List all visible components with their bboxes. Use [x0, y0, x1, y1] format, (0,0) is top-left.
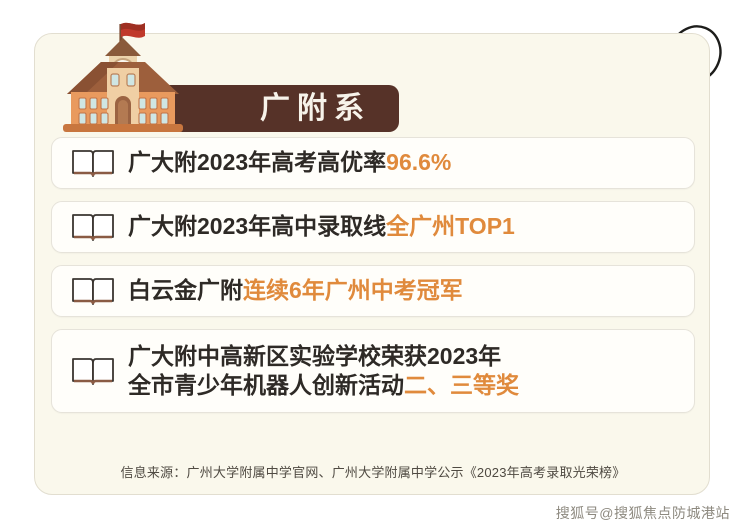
fact-text-line: 广大附中高新区实验学校荣获2023年 [128, 342, 519, 371]
fact-text-normal: 广大附中高新区实验学校荣获2023年 [128, 343, 501, 369]
source-note: 信息来源：广州大学附属中学官网、广州大学附属中学公示《2023年高考录取光荣榜》 [35, 462, 711, 481]
fact-text-line: 全市青少年机器人创新活动二、三等奖 [128, 371, 519, 400]
fact-text-highlight: 二、三等奖 [404, 372, 519, 398]
open-book-icon [70, 146, 116, 180]
fact-text-normal: 白云金广附 [128, 277, 243, 303]
header: 广附系 [35, 34, 711, 139]
open-book-icon [70, 274, 116, 308]
fact-text-normal: 全市青少年机器人创新活动 [128, 372, 404, 398]
page-title: 广附系 [253, 94, 371, 124]
fact-text-highlight: 连续6年广州中考冠军 [243, 277, 463, 303]
poster-root: 广附系 [0, 0, 740, 529]
fact-text-highlight: 96.6% [386, 149, 451, 175]
facts-list: 广大附2023年高考高优率96.6% 广大附2023年高中录取线全广州TOP1 [51, 137, 695, 425]
open-book-icon [70, 354, 116, 388]
fact-text-highlight: 全广州TOP1 [386, 213, 515, 239]
content-panel: 广附系 [34, 33, 710, 495]
fact-card[interactable]: 广大附2023年高中录取线全广州TOP1 [51, 201, 695, 253]
fact-text-normal: 广大附2023年高考高优率 [128, 149, 386, 175]
fact-card[interactable]: 广大附2023年高考高优率96.6% [51, 137, 695, 189]
fact-card[interactable]: 广大附中高新区实验学校荣获2023年 全市青少年机器人创新活动二、三等奖 [51, 329, 695, 413]
school-building-icon [49, 12, 197, 134]
fact-text-normal: 广大附2023年高中录取线 [128, 213, 386, 239]
fact-text: 广大附2023年高考高优率96.6% [128, 148, 451, 177]
fact-text: 广大附中高新区实验学校荣获2023年 全市青少年机器人创新活动二、三等奖 [128, 342, 519, 401]
fact-card[interactable]: 白云金广附连续6年广州中考冠军 [51, 265, 695, 317]
watermark: 搜狐号@搜狐焦点防城港站 [556, 503, 730, 523]
fact-text: 广大附2023年高中录取线全广州TOP1 [128, 212, 515, 241]
open-book-icon [70, 210, 116, 244]
fact-text: 白云金广附连续6年广州中考冠军 [128, 276, 463, 305]
